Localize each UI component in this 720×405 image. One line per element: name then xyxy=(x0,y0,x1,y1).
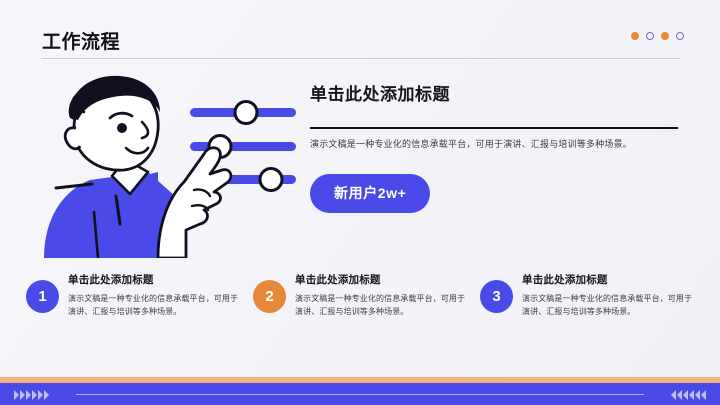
hero-rule xyxy=(310,127,678,129)
column-title-2: 单击此处添加标题 xyxy=(295,272,470,287)
feature-column-3: 3 单击此处添加标题 演示文稿是一种专业化的信息承载平台，可用于演讲、汇报与培训… xyxy=(480,271,697,319)
slide: 工作流程 xyxy=(0,0,720,405)
feature-column-1: 1 单击此处添加标题 演示文稿是一种专业化的信息承载平台，可用于演讲、汇报与培训… xyxy=(26,271,243,319)
footer-rule xyxy=(76,394,644,395)
decoration-dot-filled-icon xyxy=(661,32,669,40)
column-description-3: 演示文稿是一种专业化的信息承载平台，可用于演讲、汇报与培训等多种场景。 xyxy=(522,293,697,319)
page-title: 工作流程 xyxy=(42,27,120,54)
column-description-1: 演示文稿是一种专业化的信息承载平台，可用于演讲、汇报与培训等多种场景。 xyxy=(68,293,243,319)
decoration-dot-outline-icon xyxy=(676,32,684,40)
column-title-3: 单击此处添加标题 xyxy=(522,272,697,287)
feature-column-2: 2 单击此处添加标题 演示文稿是一种专业化的信息承载平台，可用于演讲、汇报与培训… xyxy=(253,271,470,319)
hero-title: 单击此处添加标题 xyxy=(310,80,690,105)
step-badge-1: 1 xyxy=(26,280,59,313)
step-badge-2: 2 xyxy=(253,280,286,313)
hero-block: 单击此处添加标题 演示文稿是一种专业化的信息承载平台，可用于演讲、汇报与培训等多… xyxy=(310,80,690,213)
new-users-cta-button[interactable]: 新用户2w+ xyxy=(310,174,430,213)
decoration-dot-filled-icon xyxy=(631,32,639,40)
column-description-2: 演示文稿是一种专业化的信息承载平台，可用于演讲、汇报与培训等多种场景。 xyxy=(295,293,470,319)
header-dots xyxy=(631,32,684,40)
decoration-dot-outline-icon xyxy=(646,32,654,40)
footer-chevrons-left-icon xyxy=(14,390,49,400)
man-pointing-at-sliders-illustration xyxy=(8,72,308,258)
feature-columns: 1 单击此处添加标题 演示文稿是一种专业化的信息承载平台，可用于演讲、汇报与培训… xyxy=(26,271,698,319)
hero-description: 演示文稿是一种专业化的信息承载平台，可用于演讲、汇报与培训等多种场景。 xyxy=(310,138,690,152)
footer-chevrons-right-icon xyxy=(671,390,706,400)
column-title-1: 单击此处添加标题 xyxy=(68,272,243,287)
header-divider xyxy=(41,58,680,59)
step-badge-3: 3 xyxy=(480,280,513,313)
